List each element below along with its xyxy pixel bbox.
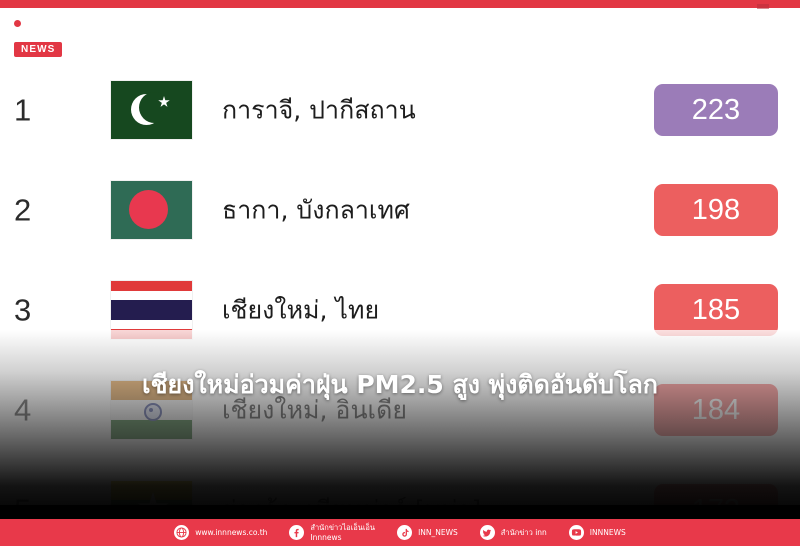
aqi-value: 198 (692, 196, 740, 225)
aqi-value: 223 (692, 96, 740, 125)
footer-facebook-line1: สำนักข่าวไอเอ็นเอ็น (310, 523, 375, 532)
city-label: เชียงใหม่, ไทย (222, 294, 379, 325)
footer-item-youtube[interactable]: INNNEWS (569, 525, 626, 540)
footer-item-twitter[interactable]: สำนักข่าว inn (480, 525, 547, 540)
aqi-badge: 198 (654, 184, 778, 236)
footer-facebook-label: สำนักข่าวไอเอ็นเอ็น Innnews (310, 523, 375, 542)
footer-tiktok-label: INN_NEWS (418, 528, 458, 537)
table-row[interactable]: 3 เชียงใหม่, ไทย 185 (0, 260, 800, 360)
rank-number: 1 (14, 95, 31, 126)
twitter-icon (480, 525, 495, 540)
footer-twitter-label: สำนักข่าว inn (501, 528, 547, 537)
aqi-badge: 223 (654, 84, 778, 136)
aqi-badge: 185 (654, 284, 778, 336)
live-dot-icon (14, 20, 21, 27)
city-label: การาจี, ปากีสถาน (222, 94, 416, 125)
top-bar-artifact (757, 4, 769, 9)
city-label: ธากา, บังกลาเทศ (222, 194, 410, 225)
footer-youtube-label: INNNEWS (590, 528, 626, 537)
crescent-cut (139, 92, 170, 123)
footer-bar: www.innnews.co.th สำนักข่าวไอเอ็นเอ็น In… (0, 519, 800, 546)
footer-website-label: www.innnews.co.th (195, 528, 267, 537)
footer-facebook-line2: Innnews (310, 533, 375, 542)
news-badge: NEWS (14, 42, 62, 57)
tiktok-icon (397, 525, 412, 540)
news-badge-label: NEWS (21, 45, 55, 55)
table-row[interactable]: 2 ธากา, บังกลาเทศ 198 (0, 160, 800, 260)
rank-number: 2 (14, 195, 31, 226)
footer-item-tiktok[interactable]: INN_NEWS (397, 525, 458, 540)
globe-icon (174, 525, 189, 540)
thailand-flag (111, 281, 192, 339)
ashoka-chakra-icon (144, 403, 162, 421)
bangladesh-flag (111, 181, 192, 239)
footer-item-website[interactable]: www.innnews.co.th (174, 525, 267, 540)
top-accent-bar (0, 0, 800, 8)
pakistan-flag (111, 81, 192, 139)
youtube-icon (569, 525, 584, 540)
news-infographic-card: NEWS 1 การาจี, ปากีสถาน 223 2 ธากา, บังก… (0, 0, 800, 546)
table-row[interactable]: 1 การาจี, ปากีสถาน 223 (0, 60, 800, 160)
aqi-ranking-list: 1 การาจี, ปากีสถาน 223 2 ธากา, บังกลาเทศ… (0, 60, 800, 546)
footer-item-facebook[interactable]: สำนักข่าวไอเอ็นเอ็น Innnews (289, 523, 375, 542)
gradient-overlay-solid (0, 505, 800, 520)
facebook-icon (289, 525, 304, 540)
aqi-value: 185 (692, 296, 740, 325)
rank-number: 3 (14, 295, 31, 326)
red-disc-shape (129, 190, 168, 229)
headline-text: เชียงใหม่อ่วมค่าฝุ่น PM2.5 สูง พุ่งติดอั… (0, 368, 800, 401)
